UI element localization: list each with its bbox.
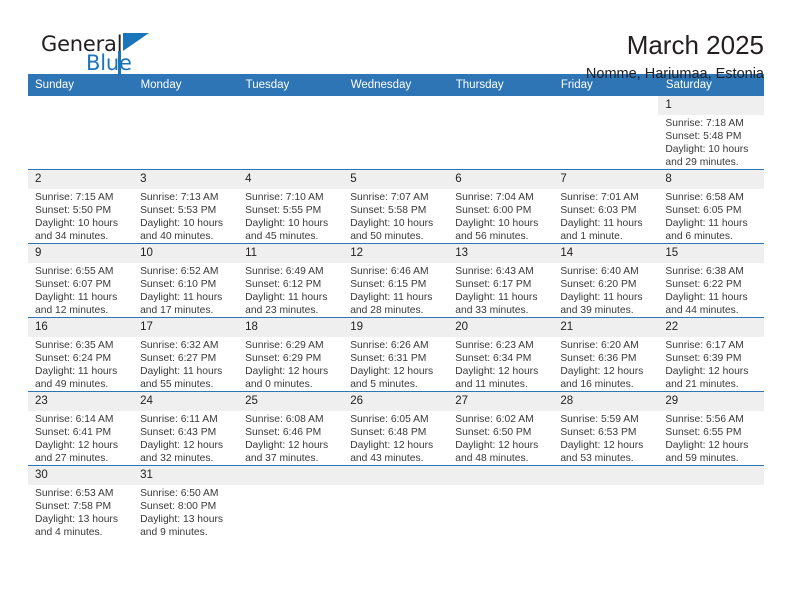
sunset-text: Sunset: 6:50 PM — [455, 426, 549, 439]
day-cell-inner: 3Sunrise: 7:13 AMSunset: 5:53 PMDaylight… — [133, 170, 238, 243]
page-header: General Blue March 2025 Nomme, Harjumaa,… — [28, 0, 764, 68]
daylight-text-line1: Daylight: 11 hours — [350, 291, 444, 304]
day-number — [133, 96, 238, 115]
calendar-week-row: 23Sunrise: 6:14 AMSunset: 6:41 PMDayligh… — [28, 392, 764, 466]
calendar-week-row: 30Sunrise: 6:53 AMSunset: 7:58 PMDayligh… — [28, 466, 764, 540]
day-sun-info: Sunrise: 6:38 AMSunset: 6:22 PMDaylight:… — [658, 263, 763, 317]
day-number: 23 — [28, 392, 133, 411]
calendar-day-cell[interactable] — [553, 96, 658, 170]
day-cell-inner — [343, 96, 448, 169]
sunset-text: Sunset: 6:46 PM — [245, 426, 339, 439]
sunset-text: Sunset: 6:05 PM — [665, 204, 759, 217]
daylight-text-line2: and 29 minutes. — [665, 156, 759, 169]
daylight-text-line2: and 34 minutes. — [35, 230, 129, 243]
day-number: 2 — [28, 170, 133, 189]
daylight-text-line1: Daylight: 12 hours — [350, 365, 444, 378]
day-sun-info: Sunrise: 6:11 AMSunset: 6:43 PMDaylight:… — [133, 411, 238, 465]
daylight-text-line1: Daylight: 11 hours — [35, 365, 129, 378]
daylight-text-line2: and 48 minutes. — [455, 452, 549, 465]
sunset-text: Sunset: 6:17 PM — [455, 278, 549, 291]
daylight-text-line1: Daylight: 12 hours — [560, 439, 654, 452]
day-number — [238, 96, 343, 115]
day-number: 17 — [133, 318, 238, 337]
day-cell-inner: 30Sunrise: 6:53 AMSunset: 7:58 PMDayligh… — [28, 466, 133, 539]
daylight-text-line2: and 50 minutes. — [350, 230, 444, 243]
daylight-text-line2: and 37 minutes. — [245, 452, 339, 465]
sunset-text: Sunset: 6:39 PM — [665, 352, 759, 365]
day-cell-inner: 17Sunrise: 6:32 AMSunset: 6:27 PMDayligh… — [133, 318, 238, 391]
title-block: March 2025 Nomme, Harjumaa, Estonia — [586, 30, 764, 84]
sunrise-text: Sunrise: 6:58 AM — [665, 191, 759, 204]
day-number — [448, 96, 553, 115]
day-number: 28 — [553, 392, 658, 411]
sunrise-text: Sunrise: 7:18 AM — [665, 117, 759, 130]
day-sun-info: Sunrise: 7:10 AMSunset: 5:55 PMDaylight:… — [238, 189, 343, 243]
calendar-day-cell[interactable]: 3Sunrise: 7:13 AMSunset: 5:53 PMDaylight… — [133, 170, 238, 244]
day-number: 3 — [133, 170, 238, 189]
sunrise-text: Sunrise: 6:49 AM — [245, 265, 339, 278]
day-cell-inner: 7Sunrise: 7:01 AMSunset: 6:03 PMDaylight… — [553, 170, 658, 243]
day-cell-inner: 19Sunrise: 6:26 AMSunset: 6:31 PMDayligh… — [343, 318, 448, 391]
day-number — [238, 466, 343, 485]
day-number: 15 — [658, 244, 763, 263]
calendar-body: 1Sunrise: 7:18 AMSunset: 5:48 PMDaylight… — [28, 96, 764, 539]
daylight-text-line1: Daylight: 10 hours — [140, 217, 234, 230]
day-cell-inner: 2Sunrise: 7:15 AMSunset: 5:50 PMDaylight… — [28, 170, 133, 243]
calendar-week-row: 1Sunrise: 7:18 AMSunset: 5:48 PMDaylight… — [28, 96, 764, 170]
daylight-text-line1: Daylight: 12 hours — [560, 365, 654, 378]
sunrise-text: Sunrise: 6:08 AM — [245, 413, 339, 426]
daylight-text-line2: and 28 minutes. — [350, 304, 444, 317]
daylight-text-line2: and 27 minutes. — [35, 452, 129, 465]
day-sun-info: Sunrise: 6:26 AMSunset: 6:31 PMDaylight:… — [343, 337, 448, 391]
sunset-text: Sunset: 6:12 PM — [245, 278, 339, 291]
daylight-text-line2: and 53 minutes. — [560, 452, 654, 465]
day-sun-info: Sunrise: 6:29 AMSunset: 6:29 PMDaylight:… — [238, 337, 343, 391]
day-sun-info: Sunrise: 6:05 AMSunset: 6:48 PMDaylight:… — [343, 411, 448, 465]
day-number: 18 — [238, 318, 343, 337]
daylight-text-line2: and 5 minutes. — [350, 378, 444, 391]
day-sun-info: Sunrise: 7:18 AMSunset: 5:48 PMDaylight:… — [658, 115, 763, 169]
daylight-text-line1: Daylight: 11 hours — [560, 217, 654, 230]
sunrise-text: Sunrise: 6:52 AM — [140, 265, 234, 278]
day-sun-info: Sunrise: 6:35 AMSunset: 6:24 PMDaylight:… — [28, 337, 133, 391]
calendar-day-cell[interactable]: 13Sunrise: 6:43 AMSunset: 6:17 PMDayligh… — [448, 244, 553, 318]
sunrise-text: Sunrise: 7:01 AM — [560, 191, 654, 204]
calendar-day-cell[interactable]: 30Sunrise: 6:53 AMSunset: 7:58 PMDayligh… — [28, 466, 133, 540]
daylight-text-line1: Daylight: 12 hours — [140, 439, 234, 452]
weekday-header-thursday: Thursday — [448, 74, 553, 96]
calendar-day-cell[interactable]: 24Sunrise: 6:11 AMSunset: 6:43 PMDayligh… — [133, 392, 238, 466]
day-sun-info: Sunrise: 6:23 AMSunset: 6:34 PMDaylight:… — [448, 337, 553, 391]
day-cell-inner: 4Sunrise: 7:10 AMSunset: 5:55 PMDaylight… — [238, 170, 343, 243]
daylight-text-line1: Daylight: 13 hours — [140, 513, 234, 526]
sunset-text: Sunset: 6:55 PM — [665, 426, 759, 439]
day-number: 12 — [343, 244, 448, 263]
day-number — [553, 96, 658, 115]
daylight-text-line1: Daylight: 11 hours — [455, 291, 549, 304]
daylight-text-line1: Daylight: 10 hours — [350, 217, 444, 230]
day-number: 22 — [658, 318, 763, 337]
day-number: 14 — [553, 244, 658, 263]
sunset-text: Sunset: 6:53 PM — [560, 426, 654, 439]
day-sun-info: Sunrise: 7:13 AMSunset: 5:53 PMDaylight:… — [133, 189, 238, 243]
sunrise-text: Sunrise: 6:35 AM — [35, 339, 129, 352]
calendar-day-cell[interactable] — [448, 96, 553, 170]
daylight-text-line1: Daylight: 12 hours — [35, 439, 129, 452]
sunset-text: Sunset: 5:55 PM — [245, 204, 339, 217]
day-number: 6 — [448, 170, 553, 189]
sunset-text: Sunset: 5:58 PM — [350, 204, 444, 217]
calendar-day-cell[interactable]: 4Sunrise: 7:10 AMSunset: 5:55 PMDaylight… — [238, 170, 343, 244]
daylight-text-line2: and 44 minutes. — [665, 304, 759, 317]
triangle-flag-icon — [123, 33, 149, 51]
day-sun-info: Sunrise: 6:55 AMSunset: 6:07 PMDaylight:… — [28, 263, 133, 317]
sunrise-text: Sunrise: 6:26 AM — [350, 339, 444, 352]
sunset-text: Sunset: 5:48 PM — [665, 130, 759, 143]
daylight-text-line2: and 6 minutes. — [665, 230, 759, 243]
day-number: 1 — [658, 96, 763, 115]
day-cell-inner: 18Sunrise: 6:29 AMSunset: 6:29 PMDayligh… — [238, 318, 343, 391]
calendar-day-cell[interactable]: 8Sunrise: 6:58 AMSunset: 6:05 PMDaylight… — [658, 170, 763, 244]
day-sun-info: Sunrise: 7:01 AMSunset: 6:03 PMDaylight:… — [553, 189, 658, 243]
sunrise-text: Sunrise: 6:11 AM — [140, 413, 234, 426]
daylight-text-line1: Daylight: 11 hours — [245, 291, 339, 304]
sunrise-text: Sunrise: 6:20 AM — [560, 339, 654, 352]
day-cell-inner — [448, 96, 553, 169]
day-number — [343, 96, 448, 115]
sunset-text: Sunset: 6:34 PM — [455, 352, 549, 365]
day-number: 27 — [448, 392, 553, 411]
daylight-text-line1: Daylight: 10 hours — [245, 217, 339, 230]
day-cell-inner — [238, 466, 343, 539]
sunrise-text: Sunrise: 6:14 AM — [35, 413, 129, 426]
day-cell-inner — [343, 466, 448, 539]
sunset-text: Sunset: 6:41 PM — [35, 426, 129, 439]
calendar-day-cell[interactable]: 16Sunrise: 6:35 AMSunset: 6:24 PMDayligh… — [28, 318, 133, 392]
day-number: 7 — [553, 170, 658, 189]
day-number: 29 — [658, 392, 763, 411]
day-cell-inner — [448, 466, 553, 539]
daylight-text-line1: Daylight: 12 hours — [350, 439, 444, 452]
daylight-text-line1: Daylight: 12 hours — [245, 365, 339, 378]
day-cell-inner: 1Sunrise: 7:18 AMSunset: 5:48 PMDaylight… — [658, 96, 763, 169]
weekday-header-tuesday: Tuesday — [238, 74, 343, 96]
day-cell-inner — [658, 466, 763, 539]
sunrise-text: Sunrise: 6:32 AM — [140, 339, 234, 352]
calendar-day-cell[interactable] — [448, 466, 553, 540]
day-cell-inner: 10Sunrise: 6:52 AMSunset: 6:10 PMDayligh… — [133, 244, 238, 317]
sunset-text: Sunset: 6:31 PM — [350, 352, 444, 365]
day-sun-info: Sunrise: 6:32 AMSunset: 6:27 PMDaylight:… — [133, 337, 238, 391]
sunrise-text: Sunrise: 6:43 AM — [455, 265, 549, 278]
day-sun-info: Sunrise: 6:02 AMSunset: 6:50 PMDaylight:… — [448, 411, 553, 465]
daylight-text-line2: and 4 minutes. — [35, 526, 129, 539]
daylight-text-line2: and 23 minutes. — [245, 304, 339, 317]
sunset-text: Sunset: 6:27 PM — [140, 352, 234, 365]
day-cell-inner: 6Sunrise: 7:04 AMSunset: 6:00 PMDaylight… — [448, 170, 553, 243]
day-number: 16 — [28, 318, 133, 337]
day-number: 24 — [133, 392, 238, 411]
calendar-day-cell[interactable]: 1Sunrise: 7:18 AMSunset: 5:48 PMDaylight… — [658, 96, 763, 170]
logo-text-blue: Blue — [86, 51, 132, 75]
sunrise-text: Sunrise: 6:40 AM — [560, 265, 654, 278]
sunset-text: Sunset: 5:53 PM — [140, 204, 234, 217]
day-number: 21 — [553, 318, 658, 337]
calendar-day-cell[interactable]: 27Sunrise: 6:02 AMSunset: 6:50 PMDayligh… — [448, 392, 553, 466]
day-cell-inner: 13Sunrise: 6:43 AMSunset: 6:17 PMDayligh… — [448, 244, 553, 317]
daylight-text-line2: and 17 minutes. — [140, 304, 234, 317]
day-cell-inner: 25Sunrise: 6:08 AMSunset: 6:46 PMDayligh… — [238, 392, 343, 465]
daylight-text-line2: and 11 minutes. — [455, 378, 549, 391]
calendar-day-cell[interactable]: 22Sunrise: 6:17 AMSunset: 6:39 PMDayligh… — [658, 318, 763, 392]
sunrise-text: Sunrise: 6:02 AM — [455, 413, 549, 426]
day-cell-inner: 22Sunrise: 6:17 AMSunset: 6:39 PMDayligh… — [658, 318, 763, 391]
calendar-day-cell[interactable]: 18Sunrise: 6:29 AMSunset: 6:29 PMDayligh… — [238, 318, 343, 392]
sunset-text: Sunset: 6:22 PM — [665, 278, 759, 291]
sunrise-text: Sunrise: 6:55 AM — [35, 265, 129, 278]
calendar-day-cell[interactable]: 17Sunrise: 6:32 AMSunset: 6:27 PMDayligh… — [133, 318, 238, 392]
calendar-day-cell[interactable]: 7Sunrise: 7:01 AMSunset: 6:03 PMDaylight… — [553, 170, 658, 244]
day-sun-info: Sunrise: 6:53 AMSunset: 7:58 PMDaylight:… — [28, 485, 133, 539]
day-sun-info: Sunrise: 5:59 AMSunset: 6:53 PMDaylight:… — [553, 411, 658, 465]
calendar-day-cell[interactable]: 12Sunrise: 6:46 AMSunset: 6:15 PMDayligh… — [343, 244, 448, 318]
daylight-text-line1: Daylight: 10 hours — [35, 217, 129, 230]
daylight-text-line2: and 32 minutes. — [140, 452, 234, 465]
day-number: 8 — [658, 170, 763, 189]
daylight-text-line2: and 16 minutes. — [560, 378, 654, 391]
sunrise-text: Sunrise: 6:05 AM — [350, 413, 444, 426]
sunset-text: Sunset: 6:29 PM — [245, 352, 339, 365]
calendar-day-cell[interactable]: 21Sunrise: 6:20 AMSunset: 6:36 PMDayligh… — [553, 318, 658, 392]
day-sun-info: Sunrise: 6:49 AMSunset: 6:12 PMDaylight:… — [238, 263, 343, 317]
daylight-text-line1: Daylight: 12 hours — [455, 439, 549, 452]
day-number — [28, 96, 133, 115]
day-number — [658, 466, 763, 485]
day-sun-info: Sunrise: 7:15 AMSunset: 5:50 PMDaylight:… — [28, 189, 133, 243]
sunrise-text: Sunrise: 7:15 AM — [35, 191, 129, 204]
sunrise-text: Sunrise: 6:50 AM — [140, 487, 234, 500]
daylight-text-line1: Daylight: 10 hours — [665, 143, 759, 156]
daylight-text-line2: and 33 minutes. — [455, 304, 549, 317]
sunset-text: Sunset: 6:36 PM — [560, 352, 654, 365]
sunrise-text: Sunrise: 6:53 AM — [35, 487, 129, 500]
calendar-day-cell[interactable]: 26Sunrise: 6:05 AMSunset: 6:48 PMDayligh… — [343, 392, 448, 466]
daylight-text-line1: Daylight: 11 hours — [140, 291, 234, 304]
sunset-text: Sunset: 6:24 PM — [35, 352, 129, 365]
day-cell-inner: 31Sunrise: 6:50 AMSunset: 8:00 PMDayligh… — [133, 466, 238, 539]
calendar-day-cell[interactable] — [28, 96, 133, 170]
daylight-text-line2: and 0 minutes. — [245, 378, 339, 391]
calendar-day-cell[interactable]: 6Sunrise: 7:04 AMSunset: 6:00 PMDaylight… — [448, 170, 553, 244]
general-blue-logo[interactable]: General Blue — [28, 30, 178, 82]
day-number: 26 — [343, 392, 448, 411]
day-cell-inner: 28Sunrise: 5:59 AMSunset: 6:53 PMDayligh… — [553, 392, 658, 465]
calendar-day-cell[interactable]: 23Sunrise: 6:14 AMSunset: 6:41 PMDayligh… — [28, 392, 133, 466]
sunrise-text: Sunrise: 5:59 AM — [560, 413, 654, 426]
sunrise-text: Sunrise: 7:13 AM — [140, 191, 234, 204]
day-sun-info: Sunrise: 5:56 AMSunset: 6:55 PMDaylight:… — [658, 411, 763, 465]
sunset-text: Sunset: 5:50 PM — [35, 204, 129, 217]
day-cell-inner: 12Sunrise: 6:46 AMSunset: 6:15 PMDayligh… — [343, 244, 448, 317]
calendar-day-cell[interactable] — [343, 466, 448, 540]
day-sun-info: Sunrise: 7:07 AMSunset: 5:58 PMDaylight:… — [343, 189, 448, 243]
day-sun-info: Sunrise: 6:20 AMSunset: 6:36 PMDaylight:… — [553, 337, 658, 391]
day-number: 10 — [133, 244, 238, 263]
daylight-text-line2: and 56 minutes. — [455, 230, 549, 243]
calendar-page: General Blue March 2025 Nomme, Harjumaa,… — [0, 0, 792, 612]
day-cell-inner: 21Sunrise: 6:20 AMSunset: 6:36 PMDayligh… — [553, 318, 658, 391]
day-cell-inner: 9Sunrise: 6:55 AMSunset: 6:07 PMDaylight… — [28, 244, 133, 317]
day-cell-inner: 15Sunrise: 6:38 AMSunset: 6:22 PMDayligh… — [658, 244, 763, 317]
calendar-day-cell[interactable]: 10Sunrise: 6:52 AMSunset: 6:10 PMDayligh… — [133, 244, 238, 318]
sunset-text: Sunset: 6:10 PM — [140, 278, 234, 291]
calendar-day-cell[interactable] — [133, 96, 238, 170]
daylight-text-line2: and 9 minutes. — [140, 526, 234, 539]
daylight-text-line2: and 43 minutes. — [350, 452, 444, 465]
calendar-day-cell[interactable]: 29Sunrise: 5:56 AMSunset: 6:55 PMDayligh… — [658, 392, 763, 466]
sunrise-text: Sunrise: 6:23 AM — [455, 339, 549, 352]
weekday-header-wednesday: Wednesday — [343, 74, 448, 96]
calendar-day-cell[interactable]: 31Sunrise: 6:50 AMSunset: 8:00 PMDayligh… — [133, 466, 238, 540]
calendar-day-cell[interactable]: 9Sunrise: 6:55 AMSunset: 6:07 PMDaylight… — [28, 244, 133, 318]
day-cell-inner — [553, 466, 658, 539]
day-cell-inner: 29Sunrise: 5:56 AMSunset: 6:55 PMDayligh… — [658, 392, 763, 465]
calendar-day-cell[interactable] — [343, 96, 448, 170]
sunset-text: Sunset: 6:15 PM — [350, 278, 444, 291]
daylight-text-line1: Daylight: 11 hours — [35, 291, 129, 304]
daylight-text-line1: Daylight: 12 hours — [665, 439, 759, 452]
day-sun-info: Sunrise: 6:43 AMSunset: 6:17 PMDaylight:… — [448, 263, 553, 317]
sunrise-text: Sunrise: 6:46 AM — [350, 265, 444, 278]
daylight-text-line2: and 12 minutes. — [35, 304, 129, 317]
sunrise-text: Sunrise: 7:07 AM — [350, 191, 444, 204]
sunrise-text: Sunrise: 7:10 AM — [245, 191, 339, 204]
calendar-day-cell[interactable]: 28Sunrise: 5:59 AMSunset: 6:53 PMDayligh… — [553, 392, 658, 466]
day-sun-info: Sunrise: 6:40 AMSunset: 6:20 PMDaylight:… — [553, 263, 658, 317]
day-number: 20 — [448, 318, 553, 337]
daylight-text-line1: Daylight: 10 hours — [455, 217, 549, 230]
day-number: 30 — [28, 466, 133, 485]
daylight-text-line1: Daylight: 11 hours — [560, 291, 654, 304]
calendar-day-cell[interactable]: 11Sunrise: 6:49 AMSunset: 6:12 PMDayligh… — [238, 244, 343, 318]
daylight-text-line1: Daylight: 11 hours — [140, 365, 234, 378]
day-cell-inner: 5Sunrise: 7:07 AMSunset: 5:58 PMDaylight… — [343, 170, 448, 243]
day-sun-info: Sunrise: 6:08 AMSunset: 6:46 PMDaylight:… — [238, 411, 343, 465]
calendar-day-cell[interactable] — [553, 466, 658, 540]
day-cell-inner: 14Sunrise: 6:40 AMSunset: 6:20 PMDayligh… — [553, 244, 658, 317]
day-sun-info: Sunrise: 6:50 AMSunset: 8:00 PMDaylight:… — [133, 485, 238, 539]
daylight-text-line2: and 49 minutes. — [35, 378, 129, 391]
calendar-week-row: 16Sunrise: 6:35 AMSunset: 6:24 PMDayligh… — [28, 318, 764, 392]
calendar-day-cell[interactable]: 14Sunrise: 6:40 AMSunset: 6:20 PMDayligh… — [553, 244, 658, 318]
sunset-text: Sunset: 8:00 PM — [140, 500, 234, 513]
day-number: 13 — [448, 244, 553, 263]
calendar-day-cell[interactable] — [238, 466, 343, 540]
day-cell-inner — [238, 96, 343, 169]
sunrise-text: Sunrise: 5:56 AM — [665, 413, 759, 426]
sunset-text: Sunset: 6:20 PM — [560, 278, 654, 291]
calendar-day-cell[interactable] — [658, 466, 763, 540]
day-cell-inner — [553, 96, 658, 169]
day-cell-inner — [133, 96, 238, 169]
day-number: 5 — [343, 170, 448, 189]
sunset-text: Sunset: 6:48 PM — [350, 426, 444, 439]
day-number — [343, 466, 448, 485]
daylight-text-line2: and 39 minutes. — [560, 304, 654, 317]
day-number: 31 — [133, 466, 238, 485]
page-title: March 2025 — [586, 30, 764, 60]
day-number: 11 — [238, 244, 343, 263]
daylight-text-line1: Daylight: 12 hours — [455, 365, 549, 378]
calendar-day-cell[interactable]: 20Sunrise: 6:23 AMSunset: 6:34 PMDayligh… — [448, 318, 553, 392]
sunset-text: Sunset: 6:03 PM — [560, 204, 654, 217]
sunrise-text: Sunrise: 6:17 AM — [665, 339, 759, 352]
sunrise-sunset-calendar: Sunday Monday Tuesday Wednesday Thursday… — [28, 74, 764, 539]
daylight-text-line1: Daylight: 11 hours — [665, 291, 759, 304]
day-sun-info: Sunrise: 6:46 AMSunset: 6:15 PMDaylight:… — [343, 263, 448, 317]
calendar-day-cell[interactable]: 5Sunrise: 7:07 AMSunset: 5:58 PMDaylight… — [343, 170, 448, 244]
day-cell-inner: 23Sunrise: 6:14 AMSunset: 6:41 PMDayligh… — [28, 392, 133, 465]
calendar-day-cell[interactable]: 25Sunrise: 6:08 AMSunset: 6:46 PMDayligh… — [238, 392, 343, 466]
daylight-text-line2: and 55 minutes. — [140, 378, 234, 391]
day-cell-inner: 20Sunrise: 6:23 AMSunset: 6:34 PMDayligh… — [448, 318, 553, 391]
day-number: 9 — [28, 244, 133, 263]
daylight-text-line2: and 45 minutes. — [245, 230, 339, 243]
day-number: 19 — [343, 318, 448, 337]
sunset-text: Sunset: 7:58 PM — [35, 500, 129, 513]
daylight-text-line2: and 59 minutes. — [665, 452, 759, 465]
daylight-text-line2: and 1 minute. — [560, 230, 654, 243]
day-sun-info: Sunrise: 6:52 AMSunset: 6:10 PMDaylight:… — [133, 263, 238, 317]
day-cell-inner: 8Sunrise: 6:58 AMSunset: 6:05 PMDaylight… — [658, 170, 763, 243]
daylight-text-line1: Daylight: 12 hours — [245, 439, 339, 452]
day-sun-info: Sunrise: 6:14 AMSunset: 6:41 PMDaylight:… — [28, 411, 133, 465]
calendar-day-cell[interactable]: 2Sunrise: 7:15 AMSunset: 5:50 PMDaylight… — [28, 170, 133, 244]
day-cell-inner: 16Sunrise: 6:35 AMSunset: 6:24 PMDayligh… — [28, 318, 133, 391]
day-cell-inner: 24Sunrise: 6:11 AMSunset: 6:43 PMDayligh… — [133, 392, 238, 465]
calendar-day-cell[interactable]: 19Sunrise: 6:26 AMSunset: 6:31 PMDayligh… — [343, 318, 448, 392]
day-cell-inner: 11Sunrise: 6:49 AMSunset: 6:12 PMDayligh… — [238, 244, 343, 317]
day-number: 4 — [238, 170, 343, 189]
day-cell-inner: 26Sunrise: 6:05 AMSunset: 6:48 PMDayligh… — [343, 392, 448, 465]
day-number — [448, 466, 553, 485]
day-number: 25 — [238, 392, 343, 411]
calendar-day-cell[interactable] — [238, 96, 343, 170]
day-cell-inner — [28, 96, 133, 169]
daylight-text-line2: and 40 minutes. — [140, 230, 234, 243]
sunrise-text: Sunrise: 7:04 AM — [455, 191, 549, 204]
sunset-text: Sunset: 6:00 PM — [455, 204, 549, 217]
daylight-text-line1: Daylight: 13 hours — [35, 513, 129, 526]
sunrise-text: Sunrise: 6:29 AM — [245, 339, 339, 352]
sunset-text: Sunset: 6:43 PM — [140, 426, 234, 439]
day-sun-info: Sunrise: 6:58 AMSunset: 6:05 PMDaylight:… — [658, 189, 763, 243]
day-sun-info: Sunrise: 6:17 AMSunset: 6:39 PMDaylight:… — [658, 337, 763, 391]
calendar-day-cell[interactable]: 15Sunrise: 6:38 AMSunset: 6:22 PMDayligh… — [658, 244, 763, 318]
daylight-text-line2: and 21 minutes. — [665, 378, 759, 391]
calendar-week-row: 9Sunrise: 6:55 AMSunset: 6:07 PMDaylight… — [28, 244, 764, 318]
sunrise-text: Sunrise: 6:38 AM — [665, 265, 759, 278]
day-cell-inner: 27Sunrise: 6:02 AMSunset: 6:50 PMDayligh… — [448, 392, 553, 465]
daylight-text-line1: Daylight: 12 hours — [665, 365, 759, 378]
calendar-week-row: 2Sunrise: 7:15 AMSunset: 5:50 PMDaylight… — [28, 170, 764, 244]
day-sun-info: Sunrise: 7:04 AMSunset: 6:00 PMDaylight:… — [448, 189, 553, 243]
day-number — [553, 466, 658, 485]
sunset-text: Sunset: 6:07 PM — [35, 278, 129, 291]
daylight-text-line1: Daylight: 11 hours — [665, 217, 759, 230]
